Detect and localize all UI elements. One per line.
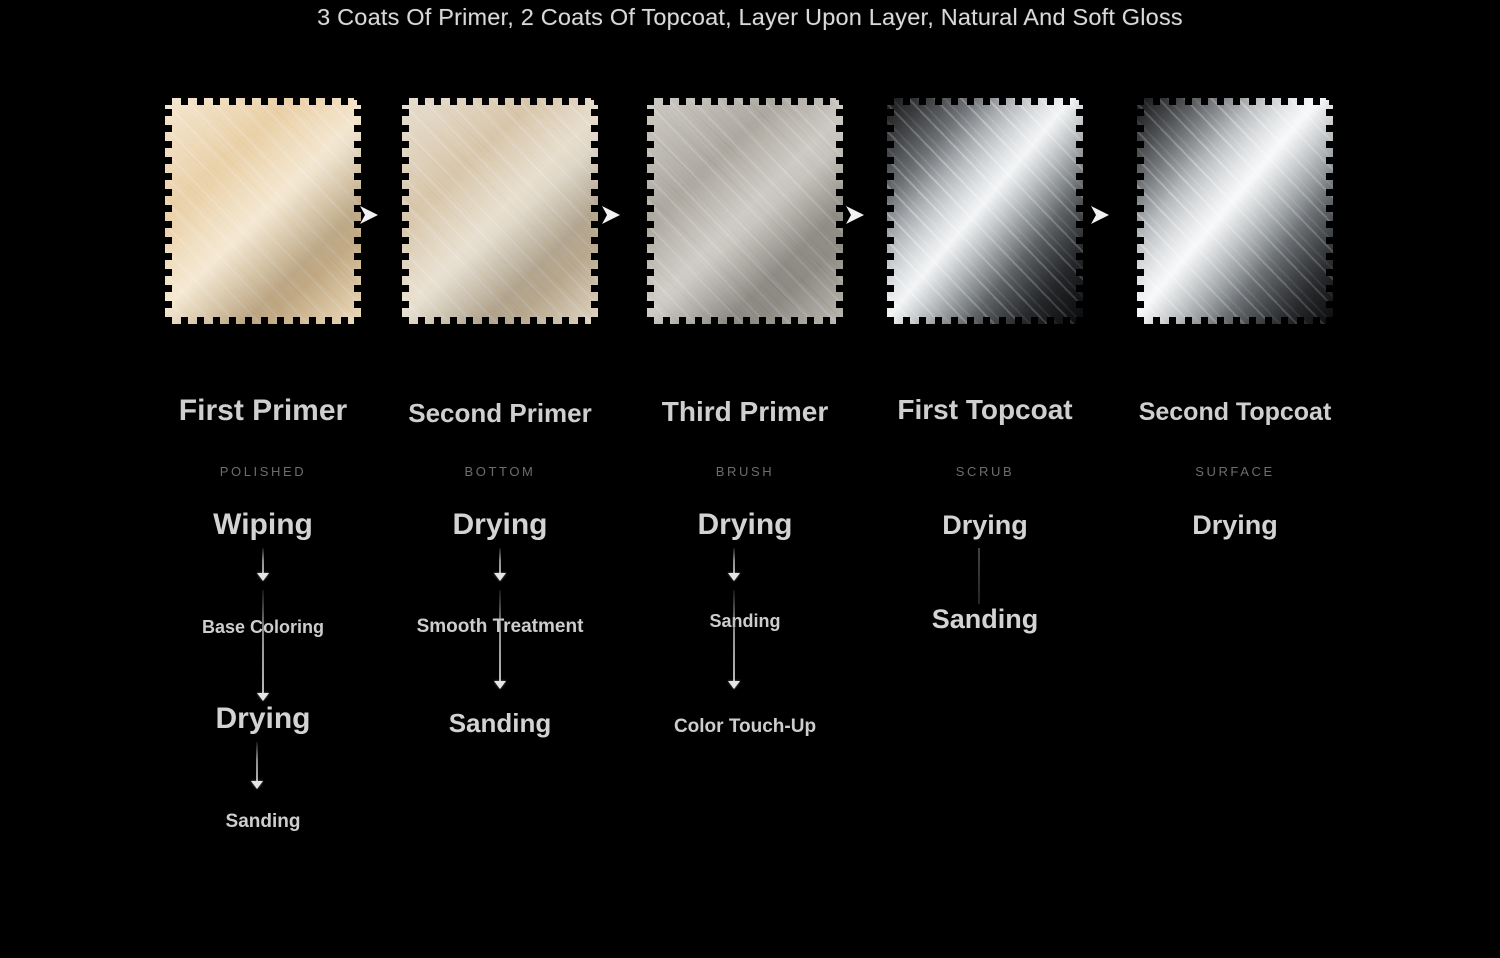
- step-label: Drying: [620, 508, 870, 542]
- chevron-right-icon: [1083, 198, 1117, 232]
- column-subheading: BOTTOM: [375, 464, 625, 479]
- swatch-first-topcoat: [887, 98, 1083, 324]
- flow-arrow: [973, 548, 985, 604]
- flow-arrow: [251, 742, 263, 788]
- flow-arrow: [728, 590, 740, 688]
- column-subheading: SURFACE: [1110, 464, 1360, 479]
- swatch-second-primer: [402, 98, 598, 324]
- column-heading: Second Primer: [375, 398, 625, 429]
- swatch-second-topcoat: [1137, 98, 1333, 324]
- step-label: Sanding: [620, 611, 870, 632]
- chevron-right-icon: [594, 198, 628, 232]
- process-column-first-primer: First Primer POLISHED Wiping Base Colori…: [138, 0, 388, 958]
- process-column-second-topcoat: Second Topcoat SURFACE Drying: [1110, 0, 1360, 958]
- infographic-canvas: 3 Coats Of Primer, 2 Coats Of Topcoat, L…: [0, 0, 1500, 958]
- process-column-first-topcoat: First Topcoat SCRUB Drying Sanding: [860, 0, 1110, 958]
- step-label: Color Touch-Up: [620, 716, 870, 738]
- flow-arrow: [257, 590, 269, 700]
- column-subheading: BRUSH: [620, 464, 870, 479]
- step-label: Drying: [860, 510, 1110, 541]
- process-column-second-primer: Second Primer BOTTOM Drying Smooth Treat…: [375, 0, 625, 958]
- chevron-right-icon: [352, 198, 386, 232]
- column-heading: First Primer: [138, 394, 388, 428]
- step-label: Sanding: [860, 604, 1110, 635]
- step-label: Wiping: [138, 508, 388, 542]
- column-heading: Third Primer: [620, 396, 870, 428]
- flow-arrow: [494, 590, 506, 688]
- process-columns: First Primer POLISHED Wiping Base Colori…: [0, 0, 1500, 958]
- swatch-first-primer: [165, 98, 361, 324]
- column-heading: First Topcoat: [860, 394, 1110, 426]
- step-label: Drying: [1110, 510, 1360, 541]
- flow-arrow: [728, 548, 740, 580]
- process-column-third-primer: Third Primer BRUSH Drying Sanding Color …: [620, 0, 870, 958]
- step-label: Drying: [138, 702, 388, 736]
- chevron-right-icon: [838, 198, 872, 232]
- step-label: Sanding: [375, 708, 625, 739]
- column-subheading: POLISHED: [138, 464, 388, 479]
- step-label: Sanding: [138, 811, 388, 833]
- swatch-third-primer: [647, 98, 843, 324]
- column-subheading: SCRUB: [860, 464, 1110, 479]
- flow-arrow: [494, 548, 506, 580]
- step-label: Drying: [375, 508, 625, 542]
- flow-arrow: [257, 548, 269, 580]
- column-heading: Second Topcoat: [1110, 398, 1360, 427]
